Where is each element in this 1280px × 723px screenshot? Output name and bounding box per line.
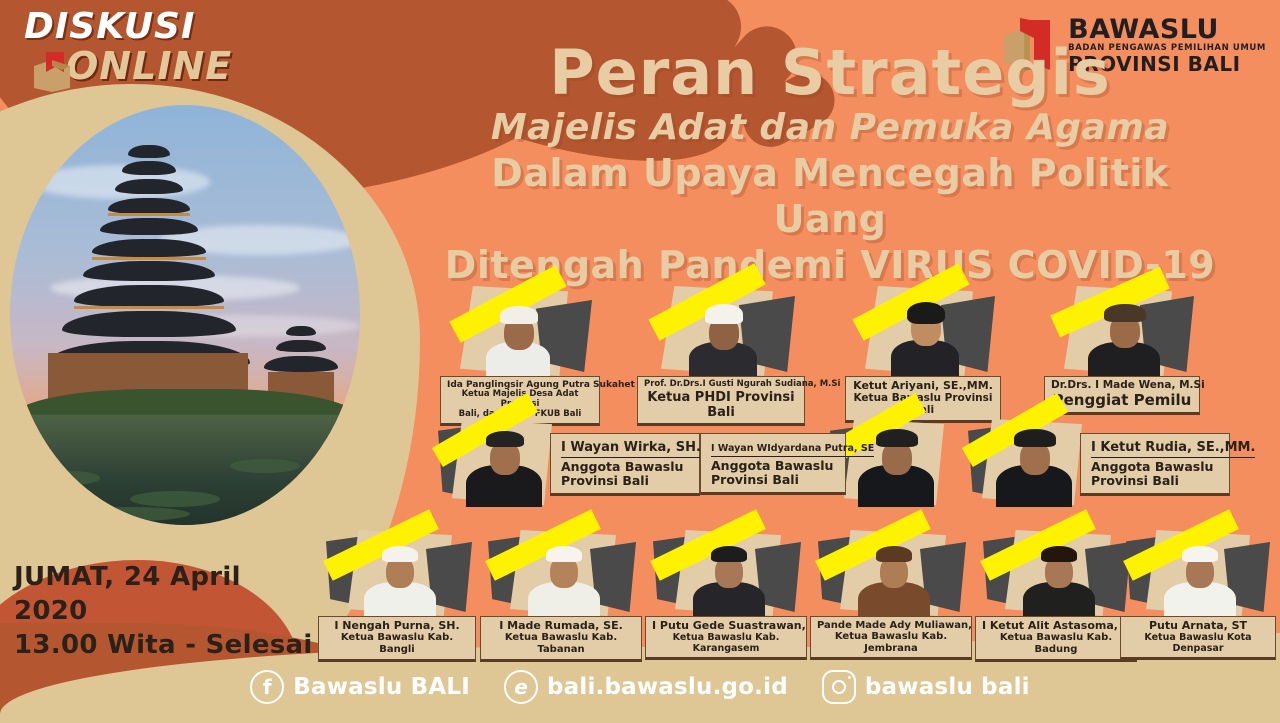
speaker-card[interactable]: I Ketut Alit Astasoma, SH Ketua Bawaslu … [975, 528, 1137, 646]
speaker-name: Prof. Dr.Drs.I Gusti Ngurah Sudiana, M.S… [644, 380, 798, 390]
pagoda-gold-line-2 [92, 257, 206, 260]
speaker-role-line1: Ketua Bawaslu Kab. Badung [982, 632, 1130, 655]
pagoda-tier-7 [83, 261, 215, 281]
portrait-headdress [546, 546, 582, 562]
speaker-name: I Ketut Alit Astasoma, SH [982, 620, 1130, 632]
speaker-name: Ketut Ariyani, SE.,MM. [852, 380, 994, 392]
facebook-icon[interactable]: f [250, 670, 284, 704]
title-sub-2: Dalam Upaya Mencegah Politik Uang [430, 150, 1230, 242]
speaker-name: Dr.Drs. I Made Wena, M.Si [1051, 380, 1193, 392]
speaker-role-line1: Ketua Bawaslu Kab. Karangasem [652, 632, 800, 654]
speaker-role-line2: Provinsi Bali [561, 474, 689, 489]
speaker-card[interactable]: I Wayan WIdyardana Putra, SE Anggota Baw… [700, 415, 970, 515]
speaker-label: Dr.Drs. I Made Wena, M.Si Penggiat Pemil… [1044, 376, 1200, 415]
title-sub-1: Majelis Adat dan Pemuka Agama [430, 106, 1230, 150]
speaker-portrait-widyardana [854, 425, 938, 507]
speaker-name: I Wayan Wirka, SH. [561, 441, 701, 458]
speaker-portrait-rudia [992, 425, 1076, 507]
portrait-headdress [705, 304, 743, 324]
speaker-label: I Ketut Rudia, SE.,MM. Anggota Bawaslu P… [1080, 433, 1230, 496]
speaker-card[interactable]: Ketut Ariyani, SE.,MM. Ketua Bawaslu Pro… [845, 284, 1001, 408]
social-instagram[interactable]: bawaslu bali [822, 670, 1030, 704]
speaker-label: I Putu Gede Suastrawan, ST. Ketua Bawasl… [645, 616, 807, 660]
portrait-headdress [1041, 546, 1077, 562]
temple-lily-2 [130, 491, 220, 507]
speaker-portrait-purna [362, 540, 438, 620]
speaker-name: I Made Rumada, SE. [487, 620, 635, 632]
pagoda-tier-6 [92, 239, 206, 257]
logo-word-online: ONLINE [66, 46, 316, 86]
temple-water [10, 415, 360, 525]
speaker-portrait-rumada [526, 540, 602, 620]
speaker-label: I Nengah Purna, SH. Ketua Bawaslu Kab. B… [318, 616, 476, 662]
portrait-headdress [500, 306, 538, 324]
pagoda-tier-9 [62, 311, 236, 337]
portrait-headdress [711, 546, 747, 562]
speaker-portrait-wena [1088, 298, 1160, 376]
speaker-role-line1: Ketua Bawaslu Kab. Bangli [325, 632, 469, 655]
speaker-name: I Ketut Rudia, SE.,MM. [1091, 441, 1255, 458]
portrait-headdress [1014, 429, 1056, 447]
speaker-role-line1: Ketua Bawaslu Kab. Tabanan [487, 632, 635, 655]
speaker-name: Pande Made Ady Muliawan, ST [817, 620, 965, 631]
speaker-card[interactable]: Dr.Drs. I Made Wena, M.Si Penggiat Pemil… [1044, 284, 1200, 408]
speaker-card[interactable]: I Wayan Wirka, SH. Anggota Bawaslu Provi… [430, 415, 700, 515]
speaker-portrait-astasoma [1021, 540, 1097, 620]
speaker-card[interactable]: Pande Made Ady Muliawan, ST Ketua Bawasl… [810, 528, 972, 646]
pagoda-tier-8 [74, 285, 224, 307]
instagram-lens [832, 680, 846, 694]
speaker-card[interactable]: Putu Arnata, ST Ketua Bawaslu Kota Denpa… [1120, 528, 1276, 646]
portrait-headdress [876, 429, 918, 447]
pagoda-tier-4 [108, 198, 190, 214]
speaker-role-line1: Penggiat Pemilu [1051, 392, 1193, 409]
small-shrine-tier-1 [286, 326, 316, 336]
temple-lily-1 [40, 471, 100, 485]
website-url[interactable]: bali.bawaslu.go.id [547, 674, 788, 700]
poster-canvas: DISKUSI ONLINE BAWASLU BADAN PENGAWAS PE… [0, 0, 1280, 723]
speaker-portrait-ariyani [889, 296, 961, 376]
speaker-portrait-muliawan [856, 540, 932, 620]
portrait-headdress [876, 546, 912, 562]
social-facebook[interactable]: f Bawaslu BALI [250, 670, 470, 704]
speaker-card[interactable]: Ida Panglingsir Agung Putra Sukahet Ketu… [440, 284, 600, 408]
poster-title-block: Peran Strategis Majelis Adat dan Pemuka … [430, 40, 1230, 288]
portrait-headdress [382, 546, 418, 562]
speaker-name: Putu Arnata, ST [1127, 620, 1269, 632]
event-date: JUMAT, 24 April 2020 [14, 560, 314, 628]
speaker-card[interactable]: I Made Rumada, SE. Ketua Bawaslu Kab. Ta… [480, 528, 642, 646]
speaker-portrait-wirka [462, 425, 546, 507]
event-schedule: JUMAT, 24 April 2020 13.00 Wita - Selesa… [14, 560, 314, 662]
social-website[interactable]: e bali.bawaslu.go.id [504, 670, 788, 704]
pagoda-gold-line-1 [108, 213, 190, 216]
speaker-card[interactable]: I Ketut Rudia, SE.,MM. Anggota Bawaslu P… [960, 415, 1230, 515]
speaker-card[interactable]: I Nengah Purna, SH. Ketua Bawaslu Kab. B… [318, 528, 476, 646]
speaker-portrait-suastrawan [691, 540, 767, 620]
diskusi-online-logo: DISKUSI ONLINE [16, 8, 316, 94]
logo-word-diskusi: DISKUSI [24, 8, 316, 46]
speaker-label: I Ketut Alit Astasoma, SH Ketua Bawaslu … [975, 616, 1137, 662]
footer-social-bar: f Bawaslu BALI e bali.bawaslu.go.id bawa… [0, 657, 1280, 717]
speaker-role-line2: Provinsi Bali [1091, 474, 1219, 489]
instagram-handle[interactable]: bawaslu bali [865, 674, 1030, 700]
speaker-portrait-sudiana [687, 298, 759, 376]
portrait-headdress [1104, 304, 1146, 322]
facebook-handle[interactable]: Bawaslu BALI [293, 674, 470, 700]
speaker-card[interactable]: Prof. Dr.Drs.I Gusti Ngurah Sudiana, M.S… [637, 284, 805, 408]
portrait-headdress [486, 431, 524, 447]
temple-photo [10, 105, 360, 525]
small-shrine-tier-2 [276, 340, 326, 352]
instagram-icon[interactable] [822, 670, 856, 704]
title-main: Peran Strategis [430, 40, 1230, 106]
pagoda-tier-1 [128, 145, 170, 158]
temple-lily-3 [230, 459, 300, 473]
speaker-role-line2: Provinsi Bali [711, 473, 835, 488]
speaker-name: I Nengah Purna, SH. [325, 620, 469, 632]
speaker-role-line1: Ketua Bawaslu Kota Denpasar [1127, 632, 1269, 654]
speaker-portrait-sukahet [482, 300, 554, 376]
speaker-role-line1: Anggota Bawaslu [561, 460, 689, 475]
pagoda-tier-5 [100, 218, 198, 235]
speaker-portrait-arnata [1162, 540, 1238, 620]
small-shrine-tier-3 [264, 356, 338, 372]
pagoda-tier-3 [115, 179, 183, 194]
temple-lily-4 [70, 507, 190, 521]
ballot-box-icon [30, 50, 76, 94]
speaker-label: I Wayan WIdyardana Putra, SE Anggota Baw… [700, 433, 846, 495]
speaker-label: Pande Made Ady Muliawan, ST Ketua Bawasl… [810, 616, 972, 660]
speaker-role-line1: Ketua Bawaslu Kab. Jembrana [817, 631, 965, 654]
instagram-dot [848, 676, 851, 679]
browser-e-icon[interactable]: e [504, 670, 538, 704]
speaker-role-line1: Anggota Bawaslu [1091, 460, 1219, 475]
pagoda-gold-line-3 [74, 306, 224, 309]
portrait-hair [907, 302, 945, 324]
speaker-name: I Putu Gede Suastrawan, ST. [652, 620, 800, 632]
pagoda-tier-2 [122, 161, 176, 175]
speaker-name: I Wayan WIdyardana Putra, SE [711, 444, 874, 457]
speaker-card[interactable]: I Putu Gede Suastrawan, ST. Ketua Bawasl… [645, 528, 807, 646]
speaker-label: Putu Arnata, ST Ketua Bawaslu Kota Denpa… [1120, 616, 1276, 660]
speaker-role-line1: Anggota Bawaslu [711, 459, 835, 474]
portrait-headdress [1182, 546, 1218, 562]
speaker-label: I Wayan Wirka, SH. Anggota Bawaslu Provi… [550, 433, 700, 496]
speaker-label: I Made Rumada, SE. Ketua Bawaslu Kab. Ta… [480, 616, 642, 662]
